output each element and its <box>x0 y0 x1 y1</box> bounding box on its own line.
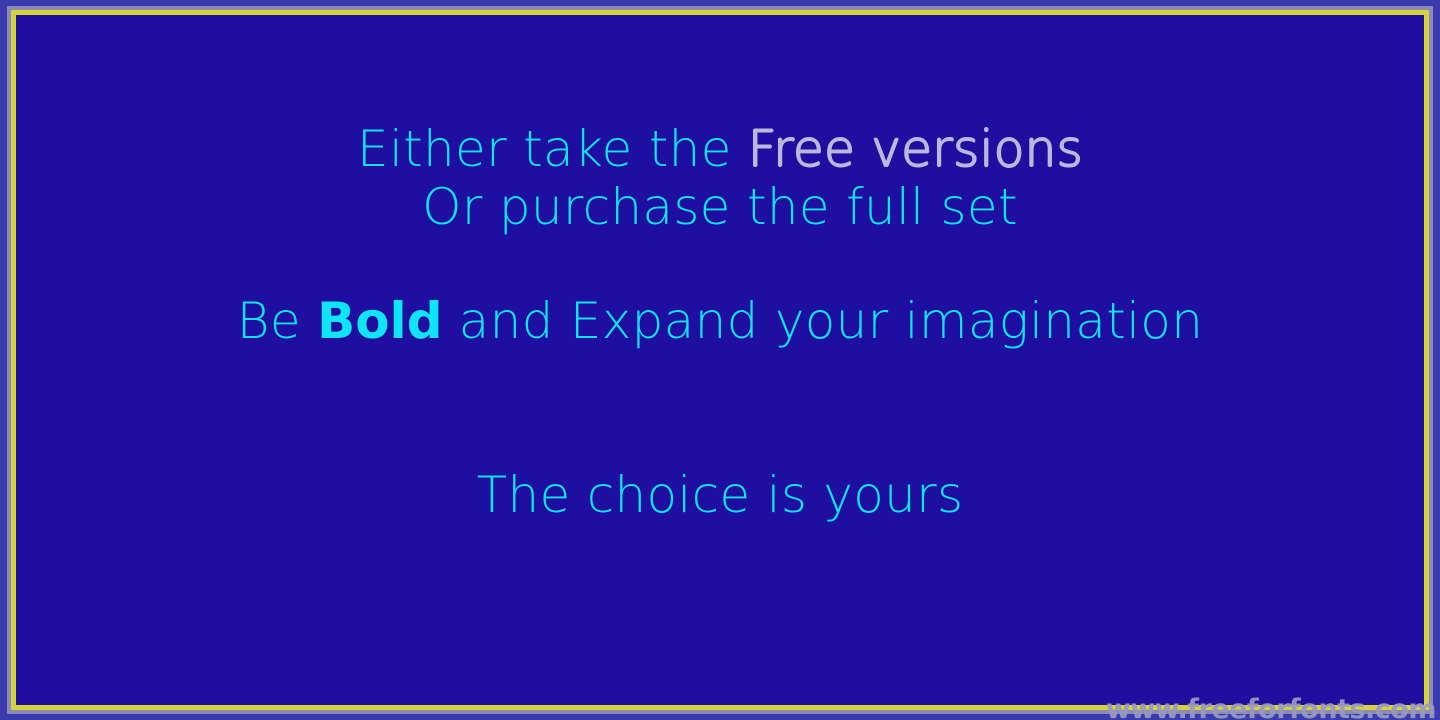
specimen-line-1: Either take the Free versions <box>0 124 1440 174</box>
specimen-line-3-regular-a: Be <box>237 292 317 350</box>
site-watermark: www.freeforfonts.com <box>1106 694 1436 720</box>
specimen-line-4: The choice is yours <box>0 470 1440 520</box>
specimen-text-block: Either take the Free versions Or purchas… <box>0 0 1440 720</box>
specimen-line-2-text: Or purchase the full set <box>422 178 1018 236</box>
font-specimen-canvas: Either take the Free versions Or purchas… <box>0 0 1440 720</box>
specimen-line-1-outlined: Free versions <box>748 120 1083 178</box>
specimen-line-3-heavy: Bold <box>317 292 442 350</box>
specimen-line-2: Or purchase the full set <box>0 182 1440 232</box>
specimen-line-4-text: The choice is yours <box>477 466 964 524</box>
specimen-line-3: Be Bold and Expand your imagination <box>0 296 1440 346</box>
specimen-line-3-regular-b: and Expand your imagination <box>442 292 1203 350</box>
specimen-line-1-regular: Either take the <box>357 120 748 178</box>
